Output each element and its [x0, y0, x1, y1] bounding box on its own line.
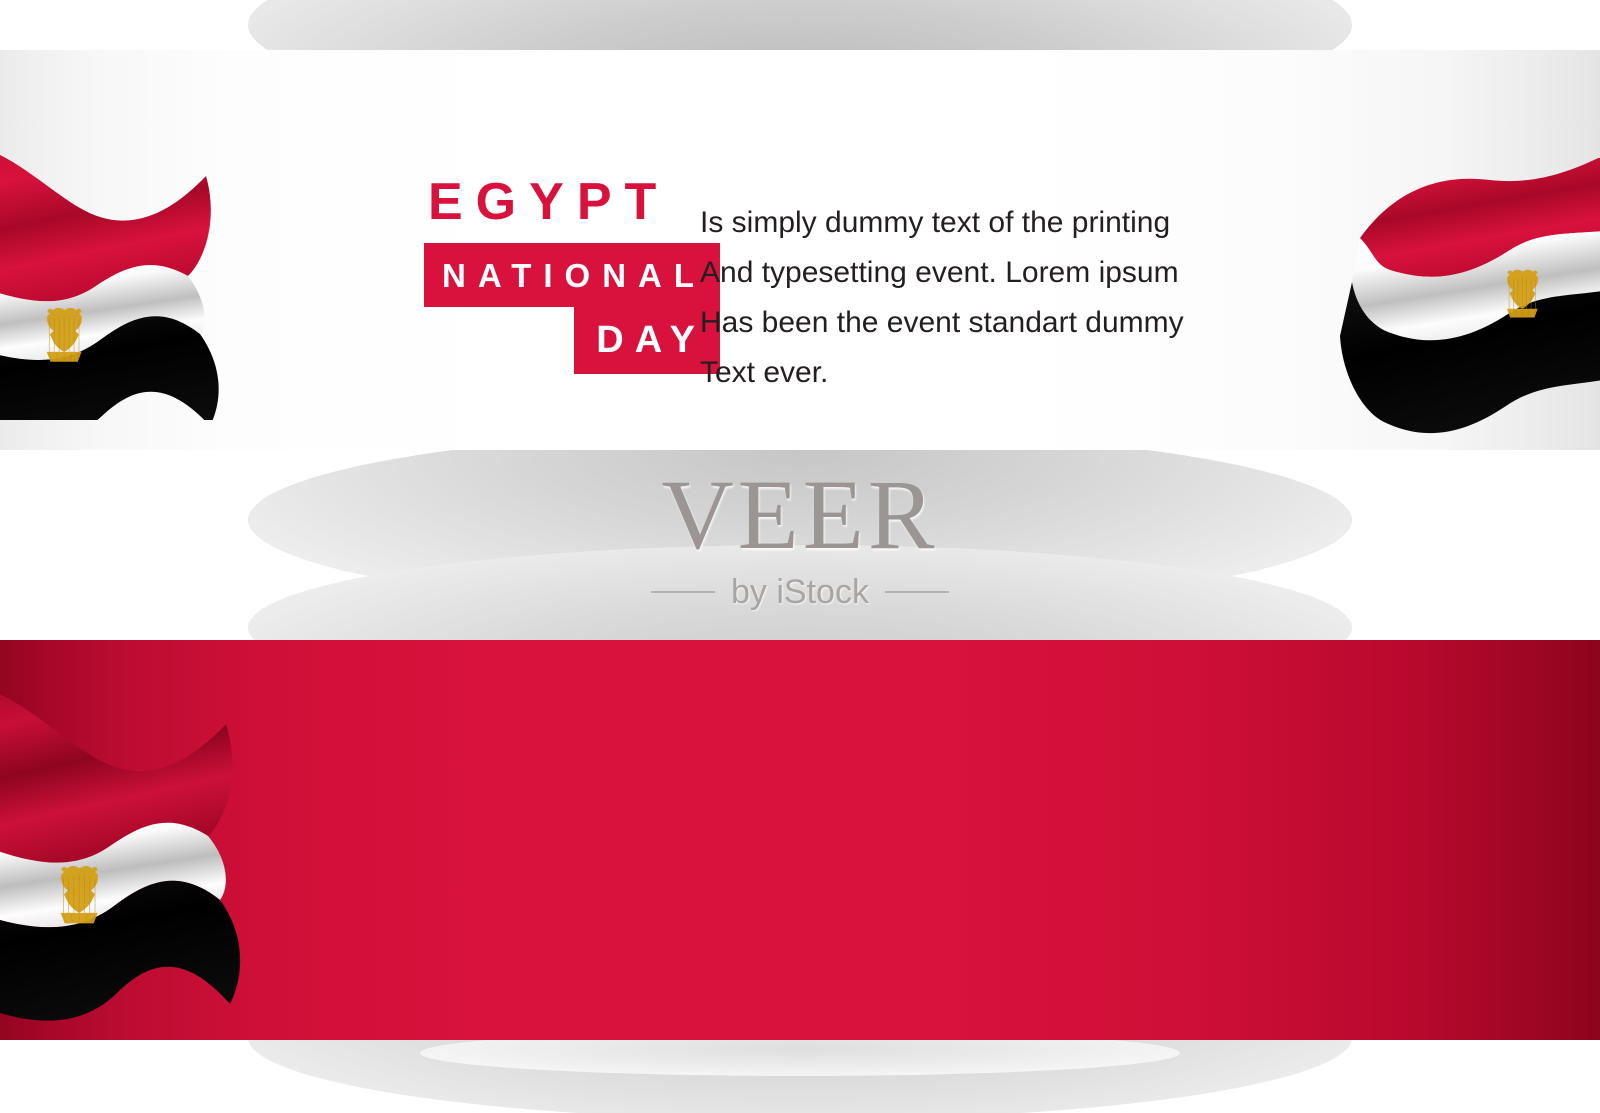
watermark-dash-right-icon [885, 591, 949, 593]
egypt-flag-icon [0, 90, 256, 420]
egypt-flag-icon [0, 664, 304, 1034]
veer-istock-watermark: VEER by iStock [0, 465, 1600, 611]
eagle-of-saladin-emblem [47, 308, 82, 362]
banner-one-body-text: Is simply dummy text of the printing And… [700, 198, 1184, 398]
title-word-national: NATIONAL [424, 243, 720, 307]
eagle-of-saladin-emblem [1507, 270, 1538, 318]
title-day-row: DAY [424, 307, 720, 374]
watermark-title: VEER [0, 465, 1600, 565]
banner-one-bottom-shadow [248, 430, 1352, 610]
banner-one: EGYPT NATIONAL DAY Is simply dummy text … [0, 50, 1600, 450]
banner-one-title-lockup: EGYPT NATIONAL DAY [424, 175, 720, 374]
banner-two: EGYPT NATIONAL DAY Is simply dummy text … [0, 640, 1600, 1040]
title-word-egypt: EGYPT [424, 175, 669, 229]
eagle-of-saladin-emblem [61, 866, 98, 923]
watermark-subtitle: by iStock [731, 573, 869, 611]
watermark-dash-left-icon [651, 591, 715, 593]
watermark-subtitle-row: by iStock [0, 573, 1600, 611]
egypt-flag-icon [1330, 158, 1600, 450]
poster-canvas: EGYPT NATIONAL DAY Is simply dummy text … [0, 0, 1600, 1113]
title-word-day: DAY [574, 307, 720, 374]
